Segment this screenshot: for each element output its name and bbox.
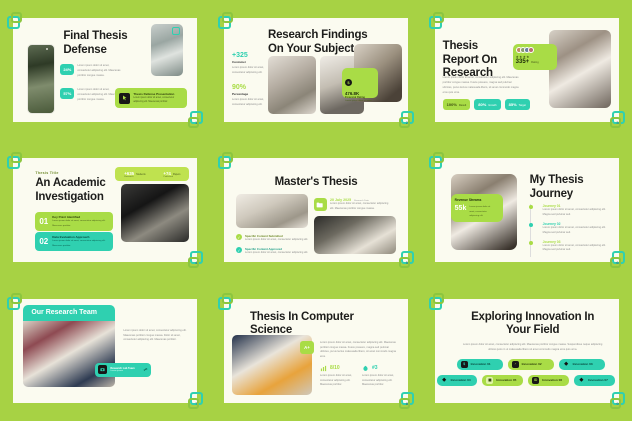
link-icon[interactable] [142,367,148,373]
team-photo [23,321,115,387]
revenue-value: 55k [455,205,467,212]
page-title: Thesis In Computer Science [250,311,354,338]
corner-decoration-bottom-right-icon: 8 [397,392,414,409]
strip-stat-label: Papers [173,173,181,176]
slide-our-research-team[interactable]: 7 Our Research Team Lorem ipsum dolor si… [13,299,197,403]
slide-final-thesis-defense[interactable]: 1 Final Thesis Defense 24% Lorem ipsum d… [13,18,197,122]
checklist-item: ✓ Specific Content Approved Lorem ipsum … [236,247,308,256]
tag-label: Innovation 06 [542,378,562,382]
slide-academic-investigation[interactable]: 4 Thesis Title An Academic Investigation… [13,158,197,262]
timeline-text: Lorem ipsum dolor sit amet, consectetur … [543,244,610,254]
innovation-tag[interactable]: $ Innovation 01 [457,359,503,370]
corner-decoration-top-left-icon [429,152,446,169]
page-title: Final Thesis Defense [63,30,141,57]
tag-label: Innovation 04 [451,378,471,382]
timeline-item: Journey 01 Lorem ipsum dolor sit amet, c… [535,204,610,218]
workshop-photo [314,216,396,254]
strip-stat-2: +74 Papers Published [163,171,180,178]
corner-decoration-top-left-icon [429,12,446,29]
date-text: Lorem ipsum dolor sit amet, consectetur … [330,202,392,212]
grade-badge: A+ [300,341,314,354]
tag-label: Innovation 03 [573,362,593,366]
researcher-photo [549,30,611,108]
chip-value: 80% [478,102,486,107]
callout-text: Lorem ipsum dolor sit amet, consectetur … [133,96,183,104]
slide-number: 9 [616,401,618,406]
slide-my-thesis-journey[interactable]: 6 Revenue Streams 55k Lorem ipsum dolor … [435,158,619,262]
checklist-item: ✓ Specific Content Submitted Lorem ipsum… [236,234,308,243]
metric-text: Lorem ipsum dolor sit amet, consectetur … [320,374,358,388]
bulb-icon: ◔ [512,361,519,368]
stat-text: Lorem ipsum dolor sit amet, consectetur … [77,64,123,78]
metric-text: Lorem ipsum dolor sit amet, consectetur … [362,374,400,388]
date-card[interactable]: 20 July 2025 Research Data Lorem ipsum d… [314,198,392,212]
folder-icon [314,198,327,211]
list-item[interactable]: 02 Data Evaluation Approach Lorem ipsum … [35,232,113,250]
id-icon: ID [532,377,539,384]
chip[interactable]: 80% Growth [474,99,500,110]
corner-decoration-bottom-right-icon: 9 [608,392,625,409]
page-title: Exploring Innovation In Your Field [461,311,605,338]
corner-decoration-bottom-right-icon: 6 [608,251,625,268]
slide-thesis-computer-science[interactable]: 8 Thesis In Computer Science A+ Lorem ip… [224,299,408,403]
timeline-item: Journey 03 Lorem ipsum dolor sit amet, c… [535,240,610,254]
slide-cell-9: 9 Exploring Innovation In Your Field Lor… [421,281,632,421]
item-text: Lorem ipsum dolor sit amet, consectetur … [52,239,109,247]
slide-cell-2: 2 Research Findings On Your Subject +325… [211,0,422,140]
body-text: Lorem ipsum dolor sit amet, consectetur … [123,329,189,343]
slide-number: 5 [406,260,408,265]
slide-number: 1 [195,120,197,125]
timeline-dot-icon [529,205,533,209]
avatar [528,47,534,53]
checklist-text: Lorem ipsum dolor sit amet, consectetur … [245,251,308,256]
innovation-tag[interactable]: ◆ Innovation 07 [574,375,615,386]
checklist-text: Lorem ipsum dolor sit amet, consectetur … [245,238,308,243]
slide-thesis-report[interactable]: 3 Thesis Report On Research Lorem ipsum … [435,18,619,122]
floating-metric-card[interactable]: $ 476.8K Financial Rating Lorem ipsum do… [342,68,378,98]
revenue-label: Revenue Streams [455,198,499,202]
chip[interactable]: 100% Result [443,99,471,110]
slide-cell-7: 7 Our Research Team Lorem ipsum dolor si… [0,281,211,421]
slide-number: 7 [195,401,197,406]
diamond-icon: ◆ [578,377,585,384]
timeline-text: Lorem ipsum dolor sit amet, consectetur … [543,208,610,218]
phone-photo [27,44,55,114]
stat-label: Percentage [232,92,264,96]
dollar-icon: $ [461,361,468,368]
slide-number: 4 [195,260,197,265]
cursor-icon [119,93,130,104]
books-photo [151,24,183,76]
page-title: My Thesis Journey [530,174,608,201]
corner-decoration-top-left-icon [7,12,24,29]
stat-value: 57% [60,88,74,99]
item-number: 02 [39,238,48,246]
chip-label: Target [519,104,526,107]
metric-value: 8/10 [330,365,340,371]
slide-cell-5: 5 Master's Thesis ✓ Specific Content Sub… [211,140,422,280]
leaf-icon [362,365,369,372]
slide-number: 8 [406,401,408,406]
slide-number: 6 [616,260,618,265]
body-text: Lorem ipsum dolor sit amet, consectetur … [463,343,603,353]
rating-card[interactable]: ★★★★ 335+ Rating [513,44,557,70]
tag-label: Innovation 05 [496,378,516,382]
body-text: Lorem ipsum dolor sit amet, consectetur … [443,76,521,95]
chart-icon [320,365,327,372]
slide-cell-8: 8 Thesis In Computer Science A+ Lorem ip… [211,281,422,421]
metric-block: #3 Lorem ipsum dolor sit amet, consectet… [362,365,400,388]
corner-decoration-top-left-icon [7,152,24,169]
page-title: Master's Thesis [224,176,408,190]
overlay-card[interactable]: Research Lab Team Lorem ipsum [95,363,151,377]
corner-decoration-bottom-right-icon: 1 [186,111,203,128]
chip-row: 100% Result 80% Growth 85% Target [443,99,530,110]
stat-text: Lorem ipsum dolor sit amet, consectetur … [232,98,264,108]
corner-decoration-bottom-right-icon: 5 [397,251,414,268]
diamond-icon: ◆ [563,361,570,368]
corner-decoration-top-left-icon [429,293,446,310]
metric-block: 8/10 Lorem ipsum dolor sit amet, consect… [320,365,358,388]
timeline-dot-icon [529,241,533,245]
stat-label: Customer [232,60,264,64]
metric-value: #3 [372,365,378,371]
tag-label: Innovation 01 [471,362,491,366]
tag-row-2: ◆ Innovation 04 ▦ Innovation 05 ID Innov… [437,375,615,386]
rating-value: 335+ [516,59,530,65]
corner-decoration-top-left-icon [218,293,235,310]
callout-card[interactable]: Thesis Defense Presentation Lorem ipsum … [115,88,187,108]
corner-decoration-bottom-right-icon: 4 [186,251,203,268]
check-icon: ✓ [236,234,242,240]
dollar-icon: $ [345,79,352,86]
innovation-tag[interactable]: ◆ Innovation 04 [437,375,478,386]
stat-row-1: 24% Lorem ipsum dolor sit amet, consecte… [60,64,123,78]
card-text: Lorem ipsum dolor sit amet. [345,99,375,103]
stat-value: 90% [232,84,264,91]
camera-icon [98,365,107,374]
stat-block-1: +325 Customer Lorem ipsum dolor sit amet… [232,52,264,76]
grid-icon: ▦ [486,377,493,384]
innovation-tag[interactable]: ◆ Innovation 03 [559,359,605,370]
timeline-text: Lorem ipsum dolor sit amet, consectetur … [543,226,610,236]
timeline-dot-icon [529,223,533,227]
chip-value: 85% [509,102,517,107]
stat-block-2: 90% Percentage Lorem ipsum dolor sit ame… [232,84,264,108]
slide-cell-3: 3 Thesis Report On Research Lorem ipsum … [421,0,632,140]
list-item[interactable]: 01 Key Point Identified Lorem ipsum dolo… [35,212,113,230]
page-title: An Academic Investigation [35,177,109,204]
stat-value: +325 [232,52,264,59]
slide-deck-grid: 1 Final Thesis Defense 24% Lorem ipsum d… [0,0,632,421]
desk-photo [268,56,316,114]
overlay-text: Lorem ipsum [110,370,139,372]
strip-stat-1: +635 Students Research [124,171,145,178]
stat-value: 24% [60,64,74,75]
slide-research-findings[interactable]: 2 Research Findings On Your Subject +325… [224,18,408,122]
corner-decoration-top-left-icon [218,12,235,29]
corner-decoration-top-left-icon [7,293,24,310]
slide-cell-1: 1 Final Thesis Defense 24% Lorem ipsum d… [0,0,211,140]
corner-decoration-bottom-right-icon: 3 [608,111,625,128]
innovation-tag[interactable]: ID Innovation 06 [528,375,569,386]
corner-decoration-top-left-icon [218,152,235,169]
check-icon: ✓ [236,247,242,253]
stat-text: Lorem ipsum dolor sit amet, consectetur … [232,66,264,76]
page-title: Our Research Team [31,309,97,316]
chip-label: Result [459,104,466,107]
item-text: Lorem ipsum dolor sit amet, consectetur … [52,219,109,227]
tag-row-1: $ Innovation 01 ◔ Innovation 02 ◆ Innova… [453,359,609,370]
corner-decoration-bottom-right-icon: 7 [186,392,203,409]
chip[interactable]: 85% Target [505,99,530,110]
slide-exploring-innovation[interactable]: 9 Exploring Innovation In Your Field Lor… [435,299,619,403]
stat-row-2: 57% Lorem ipsum dolor sit amet, consecte… [60,88,123,102]
slide-masters-thesis[interactable]: 5 Master's Thesis ✓ Specific Content Sub… [224,158,408,262]
kicker-label: Thesis Title [35,171,58,175]
innovation-tag[interactable]: ◔ Innovation 02 [508,359,554,370]
avatar-group [516,47,554,53]
strip-stat-sub: Research [124,176,145,178]
diamond-icon: ◆ [441,377,448,384]
tag-label: Innovation 02 [522,362,542,366]
item-number: 01 [39,218,48,226]
tag-label: Innovation 07 [588,378,608,382]
lab-photo [121,184,189,242]
revenue-text: Lorem ipsum dolor sit amet, consectetur … [469,205,493,217]
stat-strip: +635 Students Research +74 Papers Publis… [115,167,189,181]
strip-stat-label: Students [136,173,145,176]
corner-decoration-bottom-right-icon: 2 [397,111,414,128]
chip-label: Growth [488,104,496,107]
slide-cell-6: 6 Revenue Streams 55k Lorem ipsum dolor … [421,140,632,280]
slide-number: 2 [406,120,408,125]
section-header: Our Research Team [23,305,115,321]
slide-cell-4: 4 Thesis Title An Academic Investigation… [0,140,211,280]
revenue-card[interactable]: Revenue Streams 55k Lorem ipsum dolor si… [451,194,503,222]
rating-suffix: Rating [531,61,539,64]
body-text: Lorem ipsum dolor sit amet, consectetur … [320,341,398,360]
timeline-item: Journey 02 Lorem ipsum dolor sit amet, c… [535,222,610,236]
page-title: Thesis Report On Research [443,40,515,81]
strip-stat-sub: Published [163,176,180,178]
chip-value: 100% [447,102,457,107]
slide-number: 3 [616,120,618,125]
innovation-tag[interactable]: ▦ Innovation 05 [482,375,523,386]
timeline: Journey 01 Lorem ipsum dolor sit amet, c… [530,204,610,257]
sticky-notes-photo [236,194,308,228]
